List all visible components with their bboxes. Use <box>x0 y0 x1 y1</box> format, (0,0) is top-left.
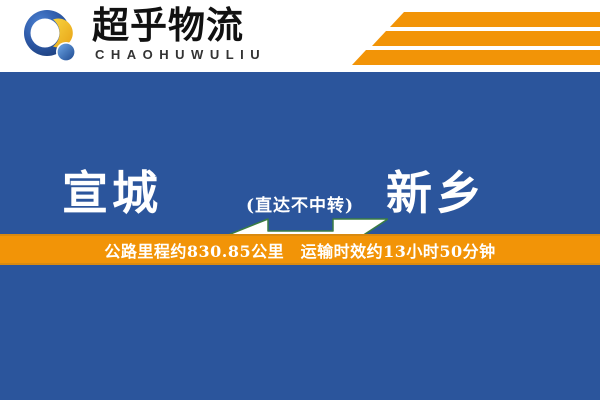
brand-name: 超乎物流 <box>92 6 244 46</box>
route-panel: 宣城 (直达不中转) 【往返运输】 新乡 <box>0 72 600 234</box>
brand-pinyin: CHAOHUWULIU <box>95 47 266 62</box>
logistics-route-banner: 超乎物流 CHAOHUWULIU 宣城 (直达不中转) 【往返运输】 新乡 公路… <box>0 0 600 400</box>
route-info-bar: 公路里程约830.85公里 运输时效约13小时50分钟 <box>0 234 600 265</box>
destination-city: 新乡 <box>386 157 486 223</box>
direct-shipping-note: (直达不中转) <box>0 191 600 216</box>
header-stripe-3 <box>352 50 600 65</box>
circle-q-logo-icon <box>22 8 80 66</box>
coverage-panel: 红旗区、卫滨区、凤泉区、牧野区、新乡县、获嘉县、 原阳县、延津县、封丘县、长垣县… <box>0 265 600 400</box>
banner-header: 超乎物流 CHAOHUWULIU <box>0 0 600 72</box>
distance-and-duration-text: 公路里程约830.85公里 运输时效约13小时50分钟 <box>104 238 495 262</box>
header-stripe-1 <box>390 12 600 27</box>
header-stripe-2 <box>372 31 600 46</box>
